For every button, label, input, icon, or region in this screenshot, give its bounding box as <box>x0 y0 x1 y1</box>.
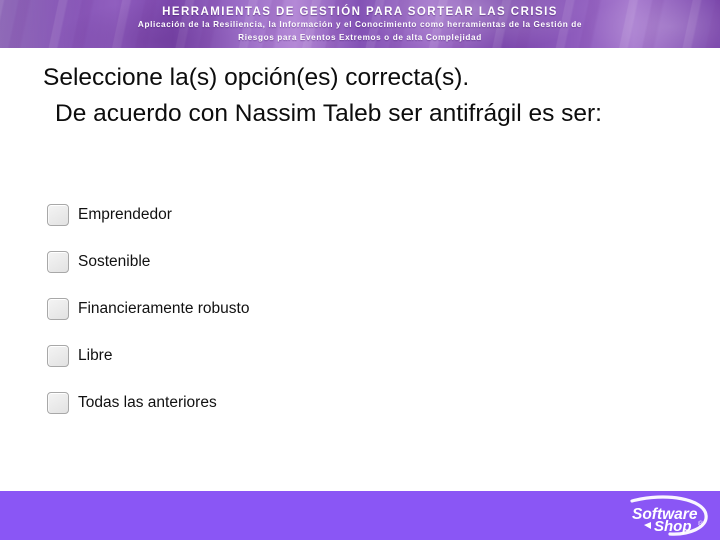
option-row-2[interactable]: Financieramente robusto <box>0 285 720 332</box>
header-text-group: HERRAMIENTAS DE GESTIÓN PARA SORTEAR LAS… <box>0 0 720 44</box>
question-block: Seleccione la(s) opción(es) correcta(s).… <box>0 60 720 132</box>
software-shop-logo: Software Shop ® <box>626 495 712 537</box>
checkbox-icon-0[interactable] <box>47 204 69 226</box>
checkbox-icon-3[interactable] <box>47 345 69 367</box>
option-label-2: Financieramente robusto <box>78 300 249 318</box>
checkbox-icon-1[interactable] <box>47 251 69 273</box>
logo-text-line2: Shop <box>654 518 692 535</box>
option-label-3: Libre <box>78 347 112 365</box>
option-label-1: Sostenible <box>78 253 150 271</box>
checkbox-icon-2[interactable] <box>47 298 69 320</box>
header-subtitle-line-1: Aplicación de la Resiliencia, la Informa… <box>0 19 720 32</box>
question-prompt: De acuerdo con Nassim Taleb ser antifrág… <box>0 96 720 132</box>
logo-trademark: ® <box>698 520 704 528</box>
option-label-0: Emprendedor <box>78 206 172 224</box>
option-row-1[interactable]: Sostenible <box>0 238 720 285</box>
options-list: Emprendedor Sostenible Financieramente r… <box>0 191 720 426</box>
checkbox-icon-4[interactable] <box>47 392 69 414</box>
header-subtitle-line-2: Riesgos para Eventos Extremos o de alta … <box>0 32 720 45</box>
header-title: HERRAMIENTAS DE GESTIÓN PARA SORTEAR LAS… <box>0 5 720 19</box>
option-label-4: Todas las anteriores <box>78 394 217 412</box>
option-row-3[interactable]: Libre <box>0 332 720 379</box>
option-row-4[interactable]: Todas las anteriores <box>0 379 720 426</box>
option-row-0[interactable]: Emprendedor <box>0 191 720 238</box>
footer-bar: Software Shop ® <box>0 491 720 540</box>
header-banner: HERRAMIENTAS DE GESTIÓN PARA SORTEAR LAS… <box>0 0 720 48</box>
question-instruction: Seleccione la(s) opción(es) correcta(s). <box>0 60 720 96</box>
